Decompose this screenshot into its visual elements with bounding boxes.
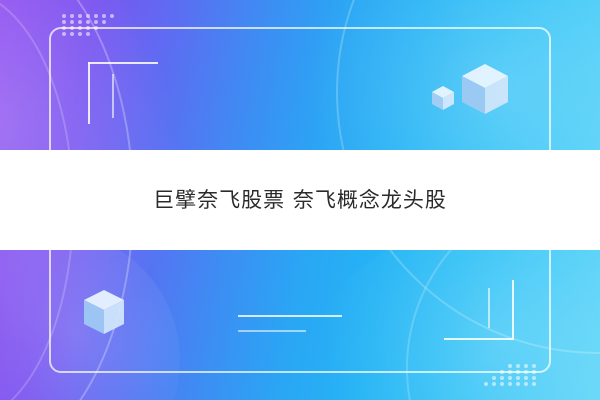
page-title: 巨擘奈飞股票 奈飞概念龙头股 xyxy=(153,190,447,211)
title-band: 巨擘奈飞股票 奈飞概念龙头股 xyxy=(0,150,600,250)
banner-image: 巨擘奈飞股票 奈飞概念龙头股 xyxy=(0,0,600,400)
accent-line-bottom-center-short xyxy=(238,330,306,332)
accent-line-bottom-center xyxy=(238,315,342,317)
